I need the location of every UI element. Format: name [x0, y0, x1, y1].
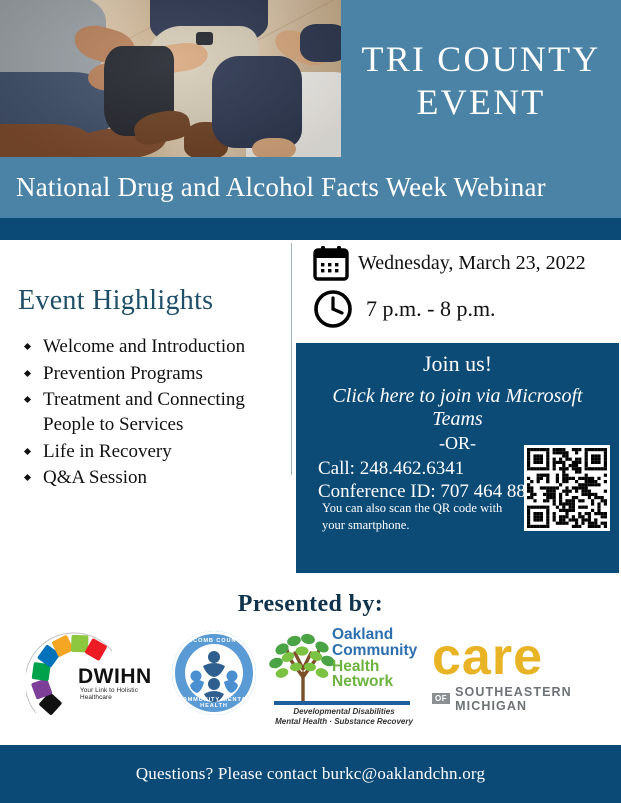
body-area: Event Highlights Welcome and Introductio…	[0, 240, 621, 587]
list-item: Life in Recovery	[18, 440, 288, 465]
join-title: Join us!	[306, 351, 609, 377]
column-divider	[291, 243, 292, 475]
macomb-text-top: MACOMB COUNTY	[172, 638, 256, 644]
dwihn-acronym: DWIHN	[78, 665, 152, 689]
event-title-block: TRI COUNTY EVENT	[341, 0, 621, 157]
oakland-word-4: Network	[332, 674, 416, 690]
list-item-label: Prevention Programs	[43, 363, 203, 384]
event-date: Wednesday, March 23, 2022	[358, 252, 586, 275]
person-sleeve	[300, 24, 341, 62]
bullet-diamond-icon	[24, 474, 31, 481]
care-wordmark: care	[432, 633, 602, 683]
macomb-seal: MACOMB COUNTY COMMUNITY MENTAL HEALTH	[172, 631, 256, 715]
event-time: 7 p.m. - 8 p.m.	[366, 296, 496, 322]
person-legs	[212, 56, 302, 148]
time-row: 7 p.m. - 8 p.m.	[312, 288, 612, 330]
date-time-block: Wednesday, March 23, 2022 7 p.m. - 8 p.m…	[312, 244, 612, 336]
care-region: SOUTHEASTERN MICHIGAN	[455, 685, 602, 713]
clock-icon	[312, 288, 354, 330]
contact-text: Questions? Please contact burkc@oaklandc…	[136, 764, 485, 784]
presented-by-title: Presented by:	[0, 587, 621, 618]
date-row: Wednesday, March 23, 2022	[312, 244, 612, 282]
list-item: Treatment and Connecting People to Servi…	[18, 388, 288, 437]
people-circle-icon	[185, 644, 243, 702]
oakland-wordmark: Oakland Community Health Network	[332, 627, 416, 690]
oakland-subtext: Developmental Disabilities Mental Health…	[272, 707, 416, 728]
header-banner: TRI COUNTY EVENT	[0, 0, 621, 157]
event-title-line2: EVENT	[417, 81, 546, 123]
oakland-word-1: Oakland	[332, 627, 416, 643]
oakland-word-2: Community	[332, 643, 416, 659]
qr-instruction-text: You can also scan the QR code with your …	[322, 500, 512, 534]
calendar-icon	[312, 244, 350, 282]
bullet-diamond-icon	[24, 370, 31, 377]
oakland-rule	[274, 701, 410, 705]
tree-icon	[264, 629, 342, 703]
sponsor-logos: DWIHN Your Link to Holistic Healthcare	[0, 625, 621, 737]
list-item: Q&A Session	[18, 466, 288, 491]
dwihn-tagline: Your Link to Holistic Healthcare	[80, 687, 166, 701]
oakland-subtext-1: Developmental Disabilities	[272, 707, 416, 717]
person-foot	[252, 138, 296, 157]
care-of-badge: OF	[432, 693, 450, 704]
logo-macomb-county: MACOMB COUNTY COMMUNITY MENTAL HEALTH	[172, 631, 256, 715]
footer-contact-bar: Questions? Please contact burkc@oaklandc…	[0, 745, 621, 803]
bullet-diamond-icon	[24, 396, 31, 403]
event-title-line1: TRI COUNTY	[362, 38, 601, 80]
join-info-box: Join us! Click here to join via Microsof…	[296, 343, 619, 573]
list-item: Welcome and Introduction	[18, 335, 288, 360]
oakland-word-3: Health	[332, 659, 416, 675]
list-item-label: Treatment and Connecting People to Servi…	[43, 389, 245, 435]
event-highlights-list: Welcome and Introduction Prevention Prog…	[18, 335, 288, 491]
navy-divider-band	[0, 218, 621, 240]
list-item: Prevention Programs	[18, 362, 288, 387]
logo-care: care OF SOUTHEASTERN MICHIGAN	[432, 633, 602, 711]
teams-join-link[interactable]: Click here to join via Microsoft Teams	[306, 385, 609, 431]
event-highlights-section: Event Highlights Welcome and Introductio…	[18, 285, 288, 493]
presented-by-section: Presented by: DWIHN Your Link to Holisti…	[0, 587, 621, 742]
logo-dwihn: DWIHN Your Link to Holistic Healthcare	[26, 629, 166, 721]
macomb-text-bottom: COMMUNITY MENTAL HEALTH	[172, 697, 256, 709]
care-subline: OF SOUTHEASTERN MICHIGAN	[432, 685, 602, 713]
oakland-subtext-2: Mental Health · Substance Recovery	[272, 717, 416, 727]
list-item-label: Q&A Session	[43, 467, 147, 488]
qr-code-icon	[524, 445, 610, 531]
webinar-subtitle: National Drug and Alcohol Facts Week Web…	[16, 172, 546, 203]
bullet-diamond-icon	[24, 448, 31, 455]
bullet-diamond-icon	[24, 343, 31, 350]
event-highlights-title: Event Highlights	[18, 285, 288, 317]
support-group-photo	[0, 0, 341, 157]
logo-oakland-chn: Oakland Community Health Network Develop…	[264, 625, 416, 729]
list-item-label: Life in Recovery	[43, 441, 172, 462]
subtitle-band: National Drug and Alcohol Facts Week Web…	[0, 157, 621, 218]
list-item-label: Welcome and Introduction	[43, 336, 245, 357]
wristwatch	[196, 32, 213, 45]
